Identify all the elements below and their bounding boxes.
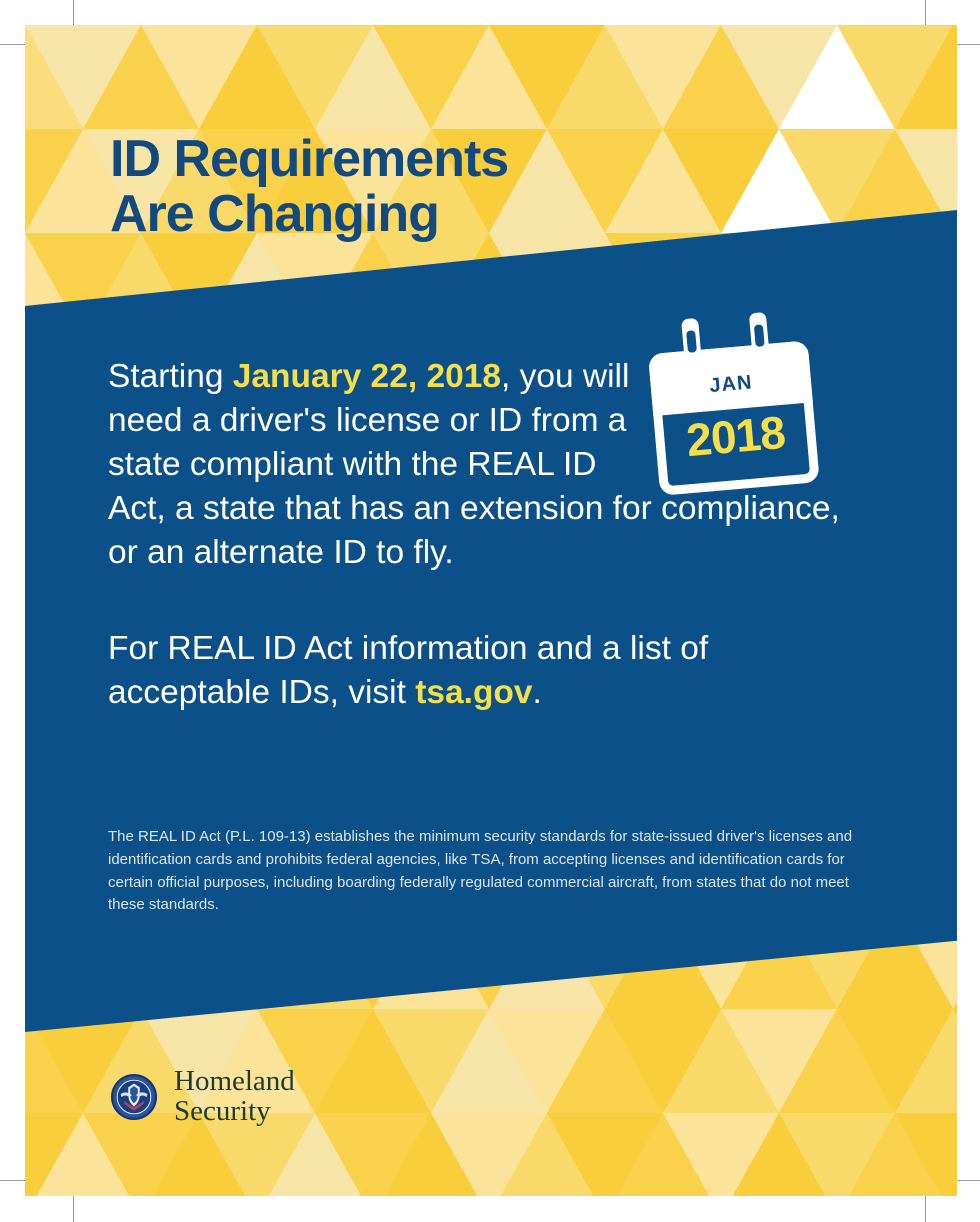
para2-after: .: [533, 674, 542, 711]
para1-comma: ,: [501, 358, 510, 395]
paragraph-more-info: For REAL ID Act information and a list o…: [108, 627, 868, 715]
tsa-gov-link[interactable]: tsa.gov: [415, 674, 532, 711]
para2-before: For REAL ID Act information and a list o…: [108, 630, 708, 711]
legal-fine-print: The REAL ID Act (P.L. 109-13) establishe…: [108, 826, 868, 917]
page-title: ID Requirements Are Changing: [110, 132, 730, 243]
dhs-wordmark-line-1: Homeland: [174, 1067, 295, 1097]
dhs-footer-lockup: Homeland Security: [110, 1067, 295, 1126]
paragraph-requirements: Starting January 22, 2018, you will need…: [108, 355, 668, 575]
poster-artboard: ID Requirements Are Changing JAN 2018 St…: [25, 25, 957, 1196]
para1-body-wide: Act, a state that has an extension for c…: [108, 487, 878, 575]
effective-date-highlight: January 22, 2018: [233, 358, 501, 395]
poster-canvas: ID Requirements Are Changing JAN 2018 St…: [0, 0, 980, 1222]
dhs-wordmark: Homeland Security: [174, 1067, 295, 1126]
headline-line-2: Are Changing: [110, 187, 730, 243]
para1-lead: Starting: [108, 358, 233, 395]
main-copy-block: Starting January 22, 2018, you will need…: [108, 321, 878, 748]
headline-line-1: ID Requirements: [110, 130, 508, 188]
dhs-seal-icon: [110, 1073, 158, 1121]
dhs-wordmark-line-2: Security: [174, 1097, 295, 1127]
